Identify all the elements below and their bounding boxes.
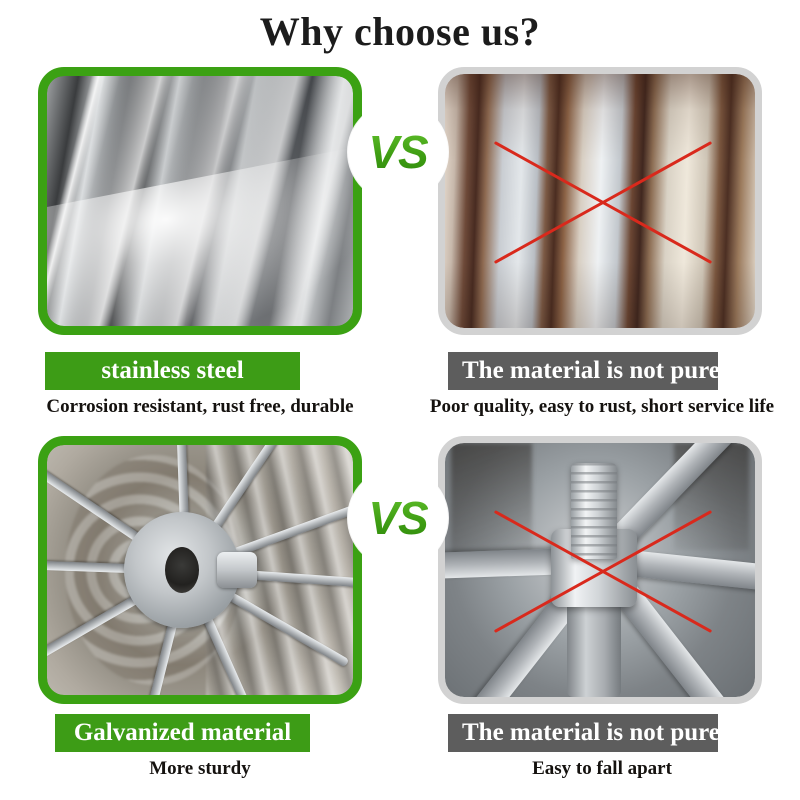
comparison-cell-bad-2: The material is not pure Easy to fall ap… [400,431,800,800]
photo-stainless-steel [47,76,353,326]
badge-material-not-pure-2: The material is not pure [448,714,718,752]
caption-more-sturdy: More sturdy [0,758,400,780]
caption-easy-to-fall-apart: Easy to fall apart [402,758,800,780]
badge-stainless-steel: stainless steel [45,352,300,390]
photo-frame-loose-bolt [438,436,762,704]
vs-badge-row-2: VS [348,468,448,568]
caption-stainless-steel: Corrosion resistant, rust free, durable [0,396,400,418]
comparison-cell-good-2: Galvanized material More sturdy [0,431,400,800]
caption-poor-quality: Poor quality, easy to rust, short servic… [402,396,800,418]
page-title: Why choose us? [0,8,800,55]
photo-frame-rusted-metal [438,67,762,335]
photo-rusted-metal [445,74,755,328]
vs-badge-row-1: VS [348,102,448,202]
vs-label: VS [368,491,427,545]
photo-frame-galvanized-hub [38,436,362,704]
badge-galvanized-material: Galvanized material [55,714,310,752]
photo-loose-bolt-hub [445,443,755,697]
vs-label: VS [368,125,427,179]
comparison-cell-good-1: stainless steel Corrosion resistant, rus… [0,62,400,431]
comparison-cell-bad-1: The material is not pure Poor quality, e… [400,62,800,431]
badge-material-not-pure-1: The material is not pure [448,352,718,390]
photo-galvanized-fan-hub [47,445,353,695]
photo-frame-stainless-steel [38,67,362,335]
infographic-page: Why choose us? stainless steel Corrosion… [0,0,800,800]
